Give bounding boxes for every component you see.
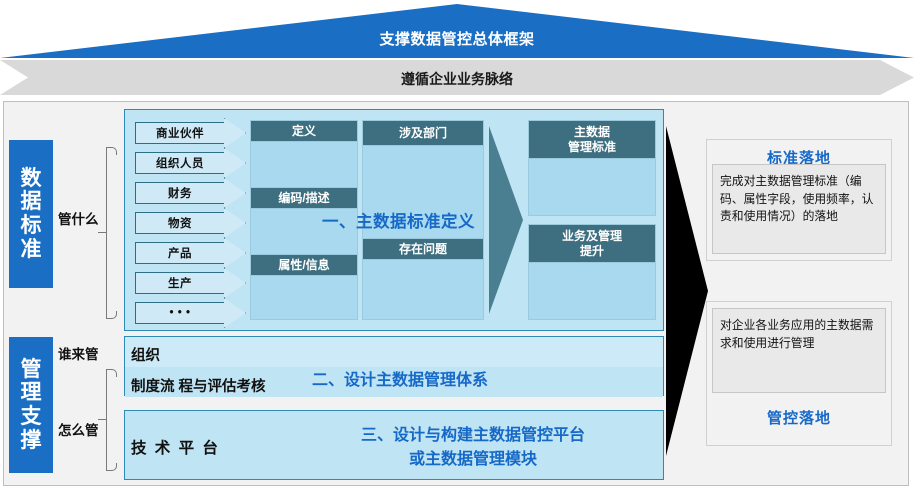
heading-step-two: 二、设计主数据管理体系 xyxy=(312,366,488,390)
domain-item-materials[interactable]: 物资 xyxy=(135,212,225,234)
involved-departments-header[interactable]: 涉及部门 xyxy=(362,120,484,146)
domain-item-more[interactable]: • • • xyxy=(135,302,225,324)
sidebar-label-management-support: 管 理 支 撑 xyxy=(9,337,53,473)
label-organization: 组织 xyxy=(131,344,160,365)
heading-step-three: 三、设计与构建主数据管控平台 或主数据管理模块 xyxy=(278,424,668,472)
vchar: 理 xyxy=(21,381,42,405)
code-description-header[interactable]: 编码/描述 xyxy=(250,187,358,209)
existing-problems-header[interactable]: 存在问题 xyxy=(362,238,484,260)
domain-item-organization-personnel[interactable]: 组织人员 xyxy=(135,152,225,174)
vchar: 撑 xyxy=(21,429,42,453)
definition-header[interactable]: 定义 xyxy=(250,120,358,142)
vchar: 标 xyxy=(21,214,42,238)
label-technology-platform: 技 术 平 台 xyxy=(131,436,220,458)
vchar: 准 xyxy=(21,238,42,262)
domain-item-business-partner[interactable]: 商业伙伴 xyxy=(135,122,225,144)
sidebar-label-data-standard: 数 据 标 准 xyxy=(9,140,53,288)
label-who-manages: 谁来管 xyxy=(58,343,99,363)
vchar: 支 xyxy=(21,405,42,429)
gray-banner-title: 遵循企业业务脉络 xyxy=(0,69,914,89)
vchar: 据 xyxy=(21,190,42,214)
standard-landing-body: 完成对主数据管理标准（编码、属性字段，使用频率，认责和使用情况）的落地 xyxy=(712,164,886,254)
label-system-process: 制度流 程与评估考核 xyxy=(131,375,266,396)
blue-banner-title: 支撑数据管控总体框架 xyxy=(0,28,914,49)
domain-item-production[interactable]: 生产 xyxy=(135,272,225,294)
domain-item-product[interactable]: 产品 xyxy=(135,242,225,264)
brace-bottom xyxy=(98,369,117,471)
attribute-info-header[interactable]: 属性/信息 xyxy=(250,254,358,276)
control-landing-title: 管控落地 xyxy=(706,400,892,428)
master-data-standard-header[interactable]: 主数据 管理标准 xyxy=(528,120,656,159)
row-organization xyxy=(125,337,663,367)
domain-item-finance[interactable]: 财务 xyxy=(135,182,225,204)
label-what-to-manage: 管什么 xyxy=(58,208,99,228)
vchar: 数 xyxy=(21,167,42,191)
heading-step-one: 一、主数据标准定义 xyxy=(322,208,475,232)
brace-top xyxy=(98,147,117,319)
control-landing-body: 对企业各业务应用的主数据需求和使用进行管理 xyxy=(712,308,886,393)
business-improvement-header[interactable]: 业务及管理 提升 xyxy=(528,224,656,263)
vchar: 管 xyxy=(21,358,42,382)
slide-canvas: 支撑数据管控总体框架 遵循企业业务脉络 数 据 标 准 管 理 支 撑 管什么 … xyxy=(0,0,914,491)
label-how-to-manage: 怎么管 xyxy=(58,419,99,439)
